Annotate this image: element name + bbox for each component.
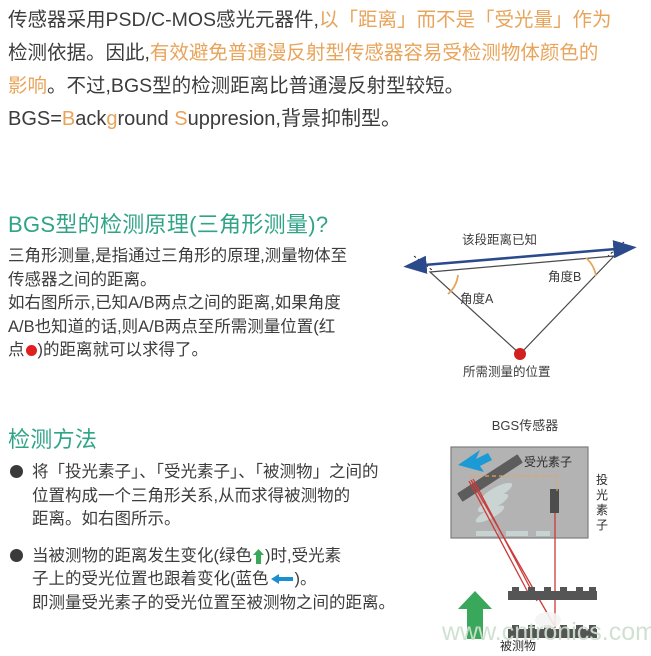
intro-line-3: 影响。不过,BGS型的检测距离比普通漫反射型较短。	[8, 70, 646, 103]
red-dot-icon	[26, 345, 37, 356]
intro-line-2-plain: 检测依据。因此,	[8, 42, 150, 64]
principle-line-2: 传感器之间的距离。	[8, 269, 400, 293]
label-target-position: 所需测量的位置	[463, 361, 551, 380]
blue-left-arrow-icon	[271, 573, 293, 585]
bullet-2-line-2: 子上的受光位置也跟着变化(蓝色)。	[32, 568, 408, 592]
label-receiver-element: 受光素子	[524, 453, 572, 470]
watermark-text: www.cntronics.com	[442, 618, 651, 647]
measured-point-dot-icon	[514, 348, 526, 360]
bgs-letter-b: B	[62, 108, 75, 130]
bullet-2-line-2-a: 子上的受光位置也跟着变化(蓝色	[32, 570, 269, 588]
green-up-arrow-icon	[252, 549, 265, 564]
bgs-uppresion: uppresion	[188, 108, 276, 130]
bullet-2-line-1-a: 当被测物的距离发生变化(绿色	[32, 547, 252, 565]
intro-line-2: 检测依据。因此,有效避免普通漫反射型传感器容易受检测物体颜色的	[8, 37, 646, 70]
bullet-2-line-1: 当被测物的距离发生变化(绿色)时,受光素	[32, 545, 408, 569]
bgs-ack: ack	[75, 108, 106, 130]
bgs-letter-s: S	[174, 108, 187, 130]
emitter-element	[550, 489, 559, 513]
intro-paragraph: 传感器采用PSD/C-MOS感光元器件,以「距离」而不是「受光量」作为 检测依据…	[8, 4, 646, 136]
bgs-sensor-diagram: BGS传感器	[440, 415, 651, 651]
bullet-dot-icon	[10, 465, 23, 478]
label-known-distance: 该段距离已知	[462, 229, 537, 248]
bgs-round: round	[118, 108, 175, 130]
principle-line-3: 如右图所示,已知A/B两点之间的距离,如果角度	[8, 292, 400, 316]
bullet-1-line-1: 将「投光素子」、「受光素子」、「被测物」之间的	[32, 461, 408, 485]
bullet-1-line-2: 位置构成一个三角形关系,从而求得被测物的	[32, 485, 408, 509]
intro-line-1: 传感器采用PSD/C-MOS感光元器件,以「距离」而不是「受光量」作为	[8, 4, 646, 37]
principle-line-5: 点)的距离就可以求得了。	[8, 339, 400, 363]
list-item: 当被测物的距离发生变化(绿色)时,受光素 子上的受光位置也跟着变化(蓝色)。 即…	[8, 545, 408, 616]
bullet-2-line-3: 即测量受光素子的受光位置至被测物之间的距离。	[32, 592, 408, 616]
label-emitter-element: 投光素子	[596, 473, 609, 533]
angle-b-arc	[586, 258, 596, 276]
intro-line-2-highlight: 有效避免普通漫反射型传感器容易受检测物体颜色的	[150, 42, 599, 64]
triangulation-diagram: 该段距离已知 角度A 角度B 所需测量的位置	[400, 228, 651, 386]
principle-line-5-b: )的距离就可以求得了。	[38, 341, 209, 359]
principle-line-4: A/B也知道的话,则A/B两点至所需测量位置(红	[8, 316, 400, 340]
bgs-letter-g: g	[106, 108, 117, 130]
object-plate-far	[508, 591, 597, 600]
principle-paragraph: 三角形测量,是指通过三角形的原理,测量物体至 传感器之间的距离。 如右图所示,已…	[8, 245, 400, 363]
method-bullet-list: 将「投光素子」、「受光素子」、「被测物」之间的 位置构成一个三角形关系,从而求得…	[8, 461, 408, 628]
page-root: 传感器采用PSD/C-MOS感光元器件,以「距离」而不是「受光量」作为 检测依据…	[0, 0, 651, 651]
angle-a-arc	[448, 275, 458, 294]
dashed-extension-left	[414, 256, 432, 270]
principle-line-5-a: 点	[8, 341, 25, 359]
bullet-2-line-2-b: )。	[295, 570, 317, 588]
section-heading-method: 检测方法	[8, 422, 97, 454]
intro-line-3-plain: 。不过,BGS型的检测距离比普通漫反射型较短。	[47, 75, 464, 97]
principle-line-1: 三角形测量,是指通过三角形的原理,测量物体至	[8, 245, 400, 269]
bgs-diagram-title: BGS传感器	[440, 415, 610, 434]
intro-line-3-highlight: 影响	[8, 75, 47, 97]
bullet-2-line-1-b: )时,受光素	[265, 547, 341, 565]
known-distance-arrow	[424, 249, 616, 265]
bullet-1-line-3: 距离。如右图所示。	[32, 508, 408, 532]
bullet-dot-icon	[10, 549, 23, 562]
section-heading-principle: BGS型的检测原理(三角形测量)?	[8, 207, 328, 239]
triangle-outline	[430, 256, 614, 354]
intro-line-1-plain: 传感器采用PSD/C-MOS感光元器件,	[8, 9, 319, 31]
label-angle-b: 角度B	[548, 266, 581, 285]
bgs-suffix: ,背景抑制型。	[275, 108, 401, 130]
bgs-prefix: BGS=	[8, 108, 62, 130]
list-item: 将「投光素子」、「受光素子」、「被测物」之间的 位置构成一个三角形关系,从而求得…	[8, 461, 408, 532]
bgs-sensor-svg	[440, 415, 651, 651]
intro-line-1-highlight: 以「距离」而不是「受光量」作为	[319, 9, 612, 31]
label-angle-a: 角度A	[460, 288, 493, 307]
intro-bgs-definition: BGS=Background Suppresion,背景抑制型。	[8, 103, 646, 136]
